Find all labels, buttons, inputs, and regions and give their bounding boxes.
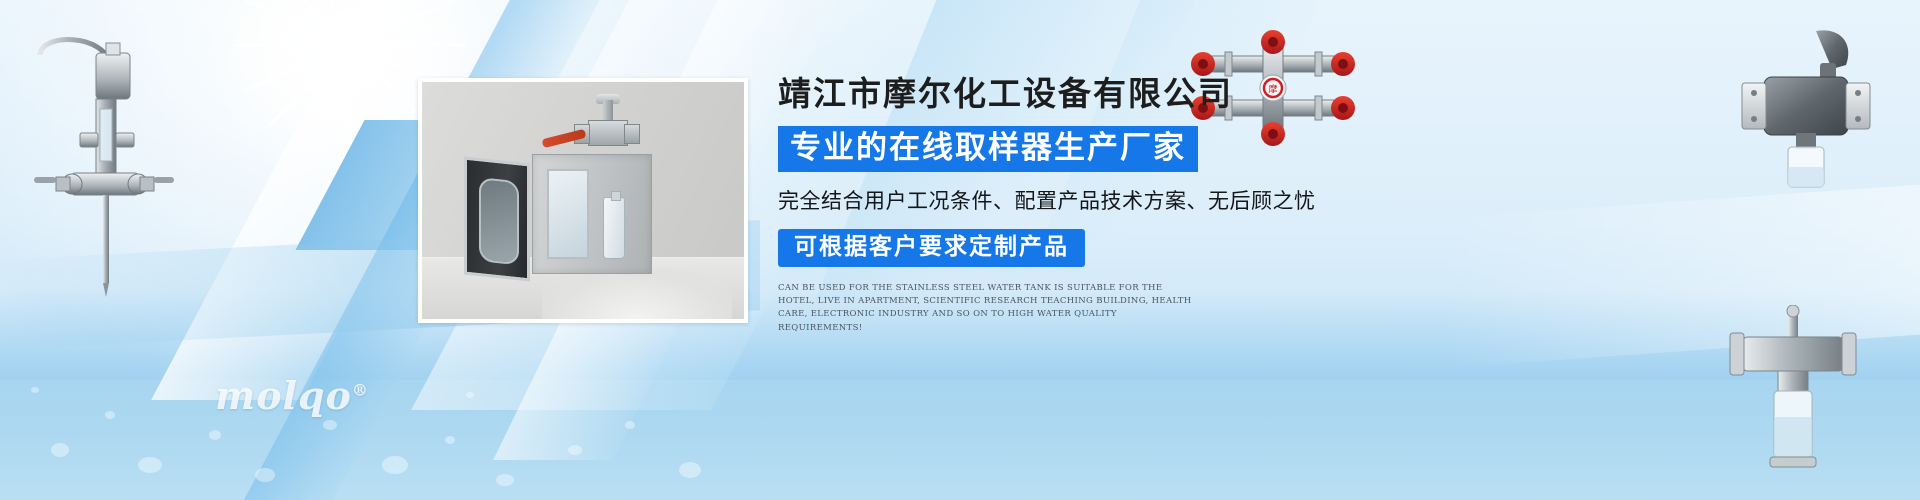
photo-cabinet-window	[547, 169, 589, 259]
cta-badge[interactable]: 可根据客户要求定制产品	[778, 229, 1085, 267]
headline-wrapper: 专业的在线取样器生产厂家	[778, 126, 1398, 172]
company-name: 靖江市摩尔化工设备有限公司	[778, 74, 1398, 114]
sub-headline: 完全结合用户工况条件、配置产品技术方案、无后顾之忧	[778, 185, 1398, 215]
watermark-logo: molqo®	[215, 373, 369, 418]
photo-sample-bottle	[603, 197, 625, 259]
photo-support-pole	[580, 272, 590, 318]
banner-text-block: 靖江市摩尔化工设备有限公司 专业的在线取样器生产厂家 完全结合用户工况条件、配置…	[778, 74, 1398, 335]
photo-valve-assembly	[572, 100, 642, 156]
product-photo	[418, 78, 748, 323]
watermark-registered-mark: ®	[352, 380, 369, 399]
photo-door-window	[479, 177, 519, 265]
watermark-text: molqo	[215, 373, 352, 418]
photo-cabinet-door	[464, 157, 530, 282]
headline-badge: 专业的在线取样器生产厂家	[778, 126, 1198, 172]
cta-wrapper: 可根据客户要求定制产品	[778, 229, 1398, 267]
product-photo-image	[422, 82, 744, 319]
photo-cabinet-body	[532, 154, 652, 274]
english-description: CAN BE USED FOR THE STAINLESS STEEL WATE…	[778, 282, 1198, 335]
promo-banner: 摩	[0, 0, 1920, 500]
